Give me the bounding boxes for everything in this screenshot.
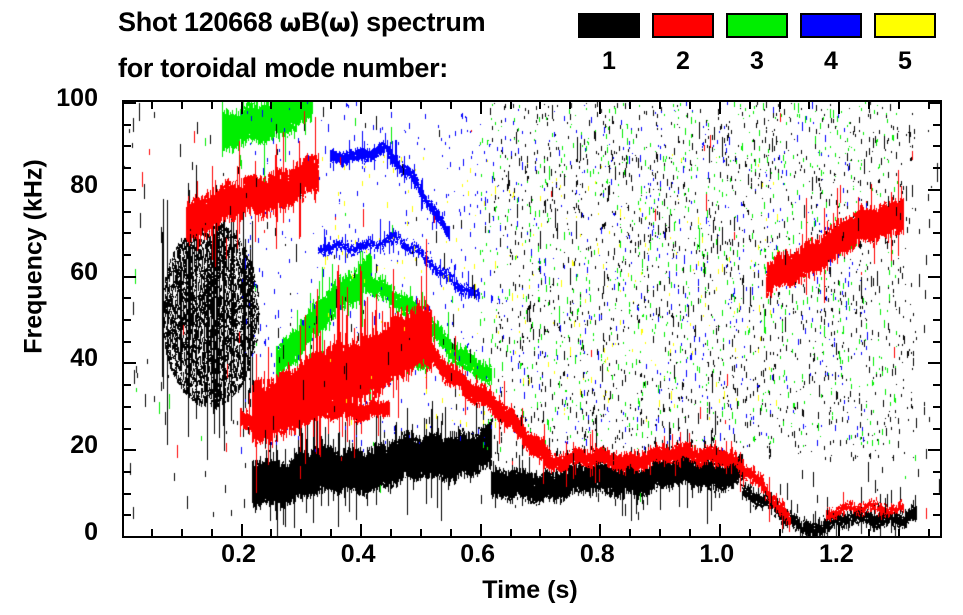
title-shot-text: Shot 120668 (118, 7, 280, 37)
x-tick-0.15 (211, 529, 213, 536)
x-tick-top-1.15 (808, 102, 810, 109)
legend-label-mode-5: 5 (874, 47, 936, 76)
y-tick-right-85 (933, 167, 940, 169)
x-tick-top-0.1 (181, 102, 183, 109)
y-tick-100 (124, 102, 136, 104)
legend-swatch-mode-3 (726, 13, 788, 38)
x-tick-top-0.95 (689, 102, 691, 109)
y-tick-right-55 (933, 297, 940, 299)
x-tick-top-0.85 (629, 102, 631, 109)
legend-item-mode-2: 2 (652, 13, 714, 38)
x-tick-top-0.75 (569, 102, 571, 109)
legend-swatch-mode-4 (800, 13, 862, 38)
spectrogram-canvas (124, 102, 940, 536)
x-tick-top-1.1 (779, 102, 781, 109)
x-tick-0.75 (569, 529, 571, 536)
x-tick-1.15 (808, 529, 810, 536)
y-tick-right-15 (933, 471, 940, 473)
x-tick-label-1.0: 1.0 (699, 540, 734, 569)
x-tick-top-0.7 (539, 102, 541, 109)
x-tick-0.45 (390, 529, 392, 536)
y-tick-85 (124, 167, 131, 169)
omega-symbol-1: ω (280, 8, 301, 37)
x-tick-0.4 (360, 524, 362, 536)
y-tick-0 (124, 536, 136, 538)
y-tick-right-90 (933, 145, 940, 147)
legend-swatch-mode-1 (578, 13, 640, 38)
y-tick-label-60: 60 (70, 258, 98, 287)
y-tick-right-70 (933, 232, 940, 234)
x-tick-0.8 (599, 524, 601, 536)
y-tick-right-60 (928, 276, 940, 278)
legend-item-mode-5: 5 (874, 13, 936, 38)
y-tick-15 (124, 471, 131, 473)
figure-title-line-2: for toroidal mode number: (118, 53, 448, 84)
x-tick-0.25 (270, 529, 272, 536)
x-tick-0.85 (629, 529, 631, 536)
x-tick-1 (719, 524, 721, 536)
y-tick-right-35 (933, 384, 940, 386)
y-tick-right-80 (928, 189, 940, 191)
x-tick-label-0.6: 0.6 (460, 540, 495, 569)
x-tick-0.7 (539, 529, 541, 536)
x-tick-label-0.2: 0.2 (221, 540, 256, 569)
plot-area (122, 100, 942, 538)
y-tick-right-20 (928, 449, 940, 451)
x-tick-0.05 (151, 529, 153, 536)
x-tick-0.3 (300, 529, 302, 536)
y-tick-30 (124, 406, 131, 408)
x-tick-0.65 (510, 529, 512, 536)
x-tick-1.25 (868, 529, 870, 536)
y-tick-right-65 (933, 254, 940, 256)
title-spectrum-text: ) spectrum (350, 7, 485, 37)
x-axis-tick-labels: 0.20.40.60.81.01.2 (122, 540, 942, 574)
legend-item-mode-1: 1 (578, 13, 640, 38)
x-tick-label-1.2: 1.2 (819, 540, 854, 569)
y-tick-90 (124, 145, 131, 147)
y-tick-label-100: 100 (56, 84, 98, 113)
y-tick-55 (124, 297, 131, 299)
x-tick-top-0.8 (599, 102, 601, 114)
mode-number-legend: 12345 (578, 13, 948, 87)
x-tick-top-0.3 (300, 102, 302, 109)
x-tick-top-0.6 (480, 102, 482, 114)
y-tick-right-45 (933, 341, 940, 343)
x-tick-top-1.25 (868, 102, 870, 109)
y-tick-right-50 (933, 319, 940, 321)
x-tick-top-0.35 (330, 102, 332, 109)
y-tick-20 (124, 449, 136, 451)
figure-title-line-1: Shot 120668 ωB(ω) spectrum (118, 7, 485, 38)
y-tick-right-25 (933, 428, 940, 430)
y-tick-right-10 (933, 493, 940, 495)
x-axis-title: Time (s) (122, 576, 938, 605)
y-axis-title: Frequency (kHz) (20, 127, 49, 387)
y-tick-95 (124, 124, 131, 126)
legend-item-mode-4: 4 (800, 13, 862, 38)
y-tick-80 (124, 189, 136, 191)
x-tick-0.55 (450, 529, 452, 536)
x-tick-label-0.4: 0.4 (341, 540, 376, 569)
legend-label-mode-2: 2 (652, 47, 714, 76)
x-tick-0.35 (330, 529, 332, 536)
x-tick-top-1 (719, 102, 721, 114)
x-tick-top-0.45 (390, 102, 392, 109)
y-tick-label-40: 40 (70, 344, 98, 373)
x-tick-top-1.35 (928, 102, 930, 109)
y-tick-70 (124, 232, 131, 234)
legend-swatch-mode-2 (652, 13, 714, 38)
y-tick-75 (124, 211, 131, 213)
legend-swatch-mode-5 (874, 13, 936, 38)
y-tick-40 (124, 362, 136, 364)
y-tick-label-20: 20 (70, 431, 98, 460)
x-tick-top-1.3 (898, 102, 900, 109)
x-tick-0.95 (689, 529, 691, 536)
legend-item-mode-3: 3 (726, 13, 788, 38)
x-tick-top-0.2 (241, 102, 243, 114)
y-tick-right-0 (928, 536, 940, 538)
legend-label-mode-3: 3 (726, 47, 788, 76)
x-tick-label-0.8: 0.8 (580, 540, 615, 569)
y-tick-65 (124, 254, 131, 256)
x-tick-0.5 (420, 529, 422, 536)
x-tick-top-0.5 (420, 102, 422, 109)
legend-label-mode-1: 1 (578, 47, 640, 76)
x-tick-0.6 (480, 524, 482, 536)
x-tick-top-1.2 (838, 102, 840, 114)
y-tick-5 (124, 514, 131, 516)
x-tick-top-0.55 (450, 102, 452, 109)
x-tick-1.35 (928, 529, 930, 536)
x-tick-0.2 (241, 524, 243, 536)
x-tick-1.3 (898, 529, 900, 536)
x-tick-top-0.9 (659, 102, 661, 109)
x-tick-top-0.65 (510, 102, 512, 109)
spectrogram-figure: Shot 120668 ωB(ω) spectrum for toroidal … (0, 0, 963, 615)
legend-label-mode-4: 4 (800, 47, 862, 76)
x-tick-top-0.15 (211, 102, 213, 109)
x-tick-0.9 (659, 529, 661, 536)
y-tick-right-75 (933, 211, 940, 213)
x-tick-1.2 (838, 524, 840, 536)
y-tick-right-5 (933, 514, 940, 516)
omega-symbol-2: ω (329, 8, 350, 37)
x-tick-top-1.05 (749, 102, 751, 109)
y-tick-right-95 (933, 124, 940, 126)
y-axis-title-container: Frequency (kHz) (0, 0, 30, 615)
y-tick-60 (124, 276, 136, 278)
x-tick-0.1 (181, 529, 183, 536)
y-tick-right-30 (933, 406, 940, 408)
y-tick-label-80: 80 (70, 171, 98, 200)
y-tick-50 (124, 319, 131, 321)
x-tick-top-0.05 (151, 102, 153, 109)
title-b-text: B( (301, 7, 329, 37)
y-tick-35 (124, 384, 131, 386)
y-tick-label-0: 0 (84, 518, 98, 547)
y-tick-10 (124, 493, 131, 495)
y-tick-45 (124, 341, 131, 343)
x-tick-top-0.4 (360, 102, 362, 114)
x-tick-1.1 (779, 529, 781, 536)
y-tick-right-40 (928, 362, 940, 364)
x-tick-1.05 (749, 529, 751, 536)
x-tick-top-0.25 (270, 102, 272, 109)
y-tick-25 (124, 428, 131, 430)
